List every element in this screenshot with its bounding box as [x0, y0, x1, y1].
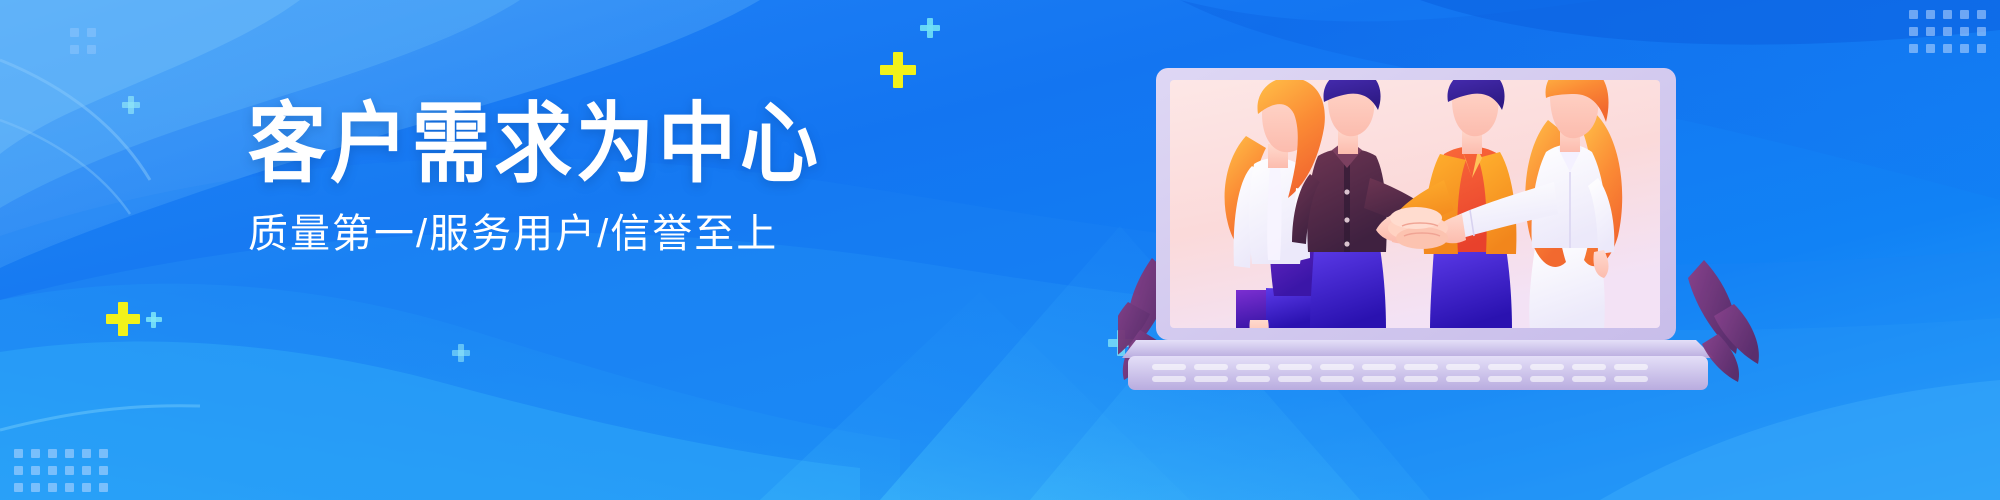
- banner-subtitle: 质量第一/服务用户/信誉至上: [248, 212, 968, 256]
- plus-icon-small-cyan-top: [920, 18, 940, 38]
- marketing-banner: 客户需求为中心 质量第一/服务用户/信誉至上: [0, 0, 2000, 500]
- laptop-illustration: [1118, 52, 1878, 402]
- dot-grid-top-right: [1909, 10, 1986, 53]
- dot-grid-left-edge: [70, 28, 96, 54]
- plus-icon-small-cyan-left: [146, 312, 162, 328]
- banner-copy: 客户需求为中心 质量第一/服务用户/信誉至上: [248, 100, 968, 256]
- plus-icon-small-cyan-center: [452, 344, 470, 362]
- page-title: 客户需求为中心: [248, 100, 968, 187]
- plus-icon-small-cyan-upper: [122, 96, 140, 114]
- team-joining-hands-artwork: [1118, 52, 1878, 402]
- laptop-keyboard-deck: [1128, 356, 1708, 390]
- laptop-hinge: [1122, 340, 1714, 358]
- plus-icon-large-yellow: [880, 52, 916, 88]
- dot-grid-bottom-left: [14, 449, 108, 492]
- plus-icon-yellow-bottom-left: [106, 302, 140, 336]
